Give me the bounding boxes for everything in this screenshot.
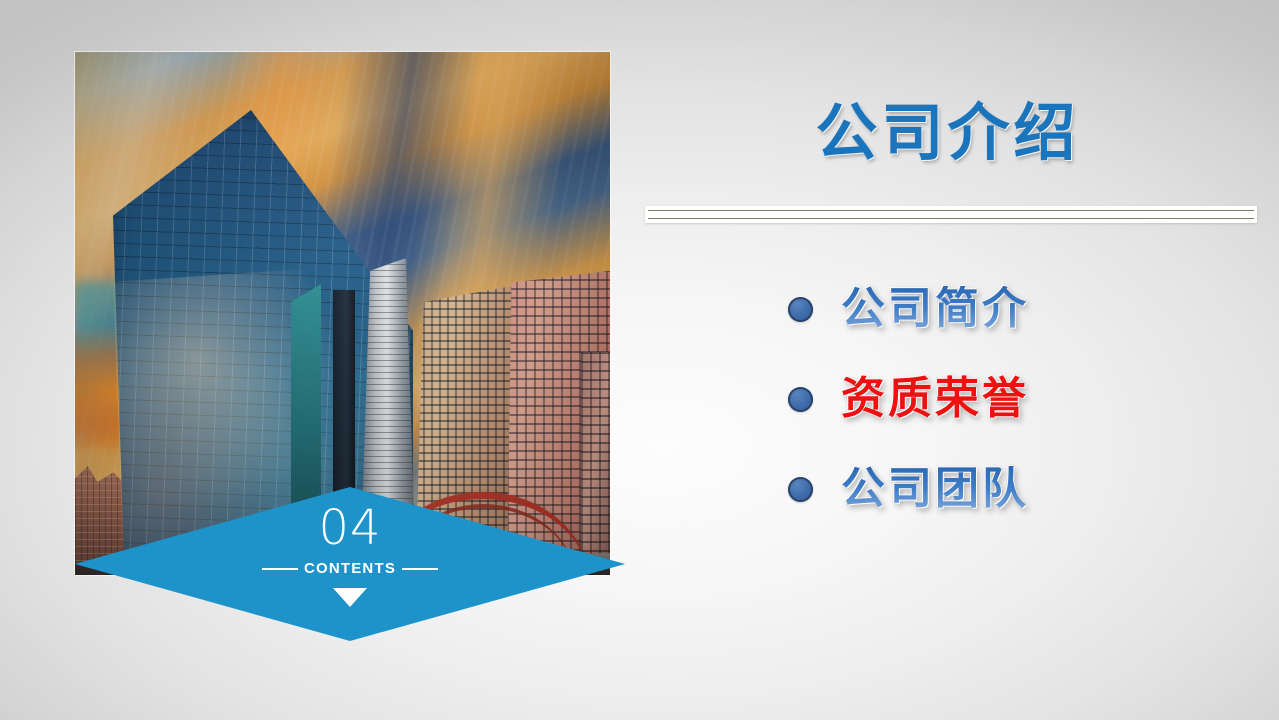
triangle-down-icon bbox=[333, 588, 367, 607]
agenda-item-qualifications-honors[interactable]: 资质荣誉 bbox=[788, 376, 1029, 422]
page-title: 公司介绍 bbox=[640, 82, 1255, 172]
agenda-item-company-team[interactable]: 公司团队 bbox=[788, 466, 1029, 512]
agenda-list: 公司简介 资质荣誉 公司团队 bbox=[788, 286, 1029, 513]
presentation-slide: 04 CONTENTS 公司介绍 公司简介 资质荣誉 公司团队 bbox=[0, 0, 1279, 720]
agenda-item-label: 公司简介 bbox=[841, 286, 1029, 332]
bullet-dot-icon bbox=[788, 477, 813, 502]
bullet-dot-icon bbox=[788, 297, 813, 322]
contents-number: 04 bbox=[318, 504, 381, 552]
contents-badge: 04 CONTENTS bbox=[75, 487, 625, 641]
contents-label: CONTENTS bbox=[304, 560, 396, 577]
agenda-item-label: 资质荣誉 bbox=[841, 376, 1029, 422]
agenda-item-label: 公司团队 bbox=[841, 466, 1029, 512]
contents-rule-right bbox=[402, 568, 438, 570]
title-divider bbox=[645, 206, 1257, 223]
title-divider-bar bbox=[648, 210, 1254, 219]
contents-rule-left bbox=[262, 568, 298, 570]
contents-label-row: CONTENTS bbox=[262, 560, 438, 577]
bullet-dot-icon bbox=[788, 387, 813, 412]
right-content-panel: 公司介绍 公司简介 资质荣誉 公司团队 bbox=[640, 0, 1279, 720]
agenda-item-company-profile[interactable]: 公司简介 bbox=[788, 286, 1029, 332]
